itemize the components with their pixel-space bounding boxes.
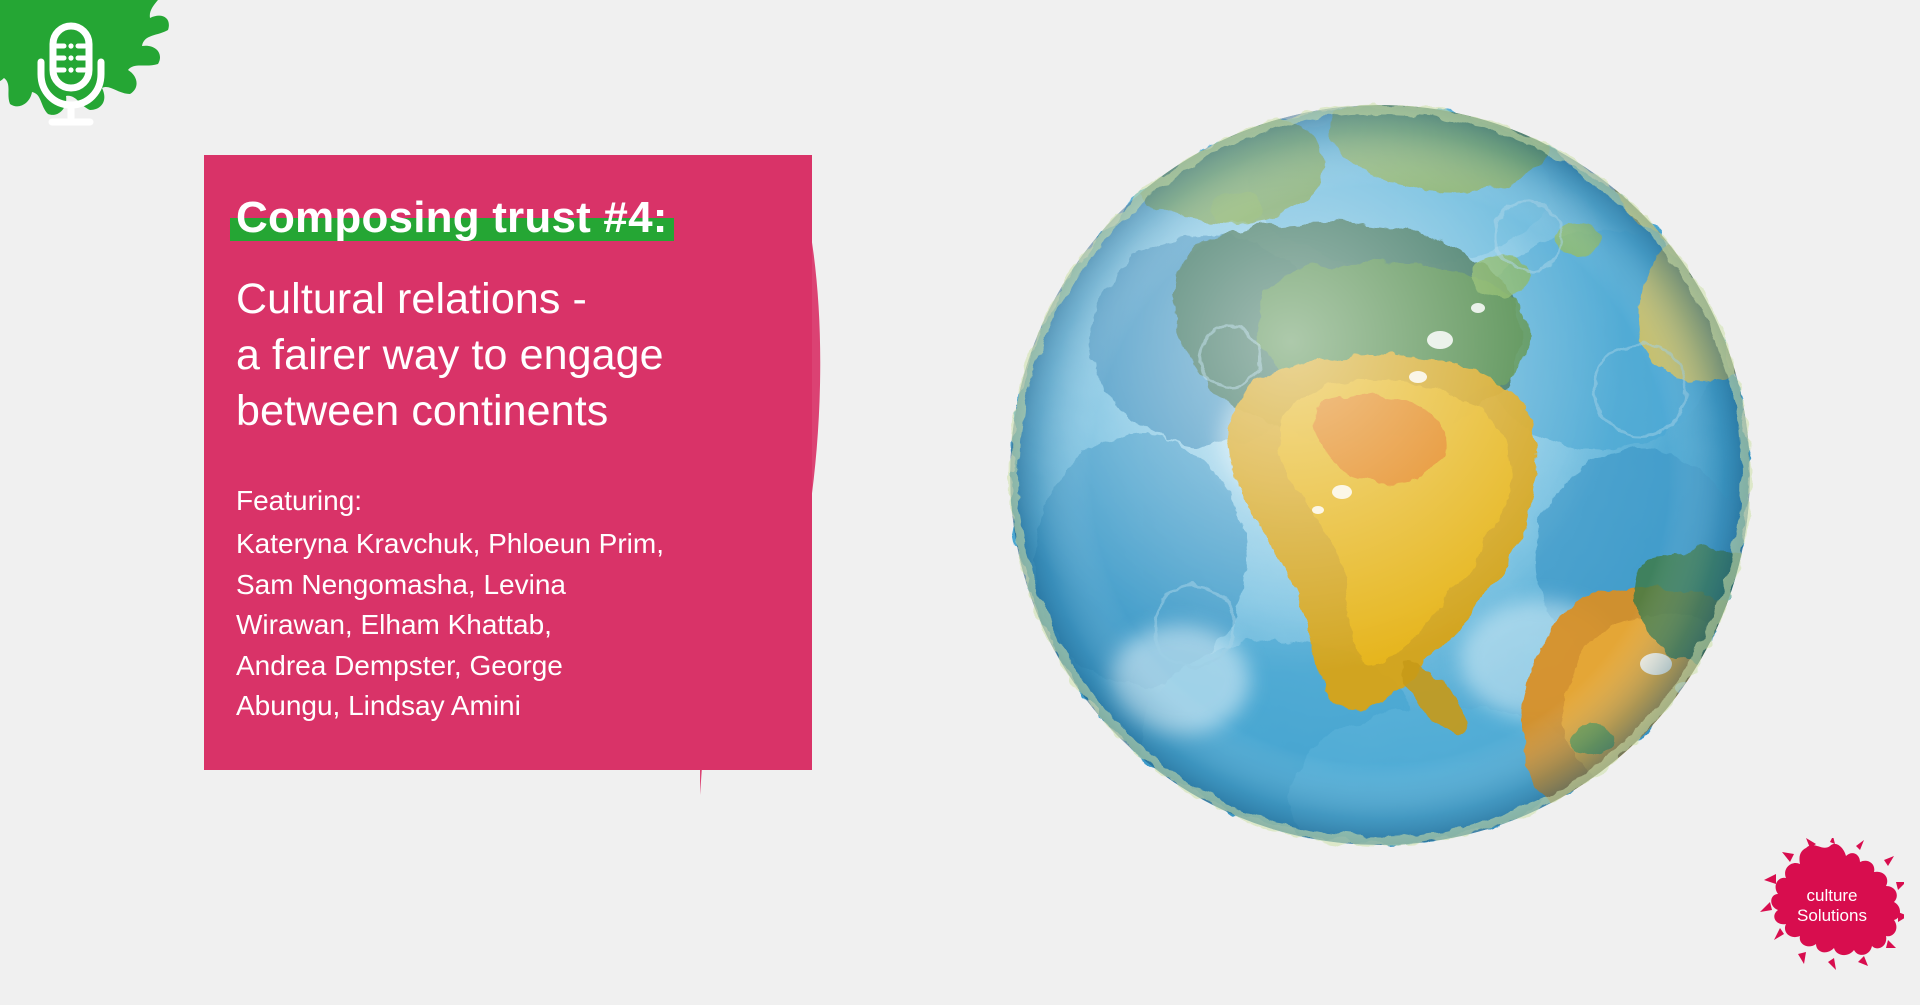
microphone-icon xyxy=(30,22,112,130)
globe-artwork xyxy=(980,40,1770,970)
featuring-names: Kateryna Kravchuk, Phloeun Prim, Sam Nen… xyxy=(236,524,666,727)
culture-solutions-logo[interactable]: culture Solutions xyxy=(1760,838,1904,986)
podcast-episode-poster: Composing trust #4: Cultural relations -… xyxy=(0,0,1920,1005)
featuring-label: Featuring: xyxy=(236,483,362,520)
series-title-wrapper: Composing trust #4: xyxy=(236,192,668,244)
series-title: Composing trust #4: xyxy=(236,192,668,244)
episode-subtitle: Cultural relations - a fairer way to eng… xyxy=(236,272,664,440)
